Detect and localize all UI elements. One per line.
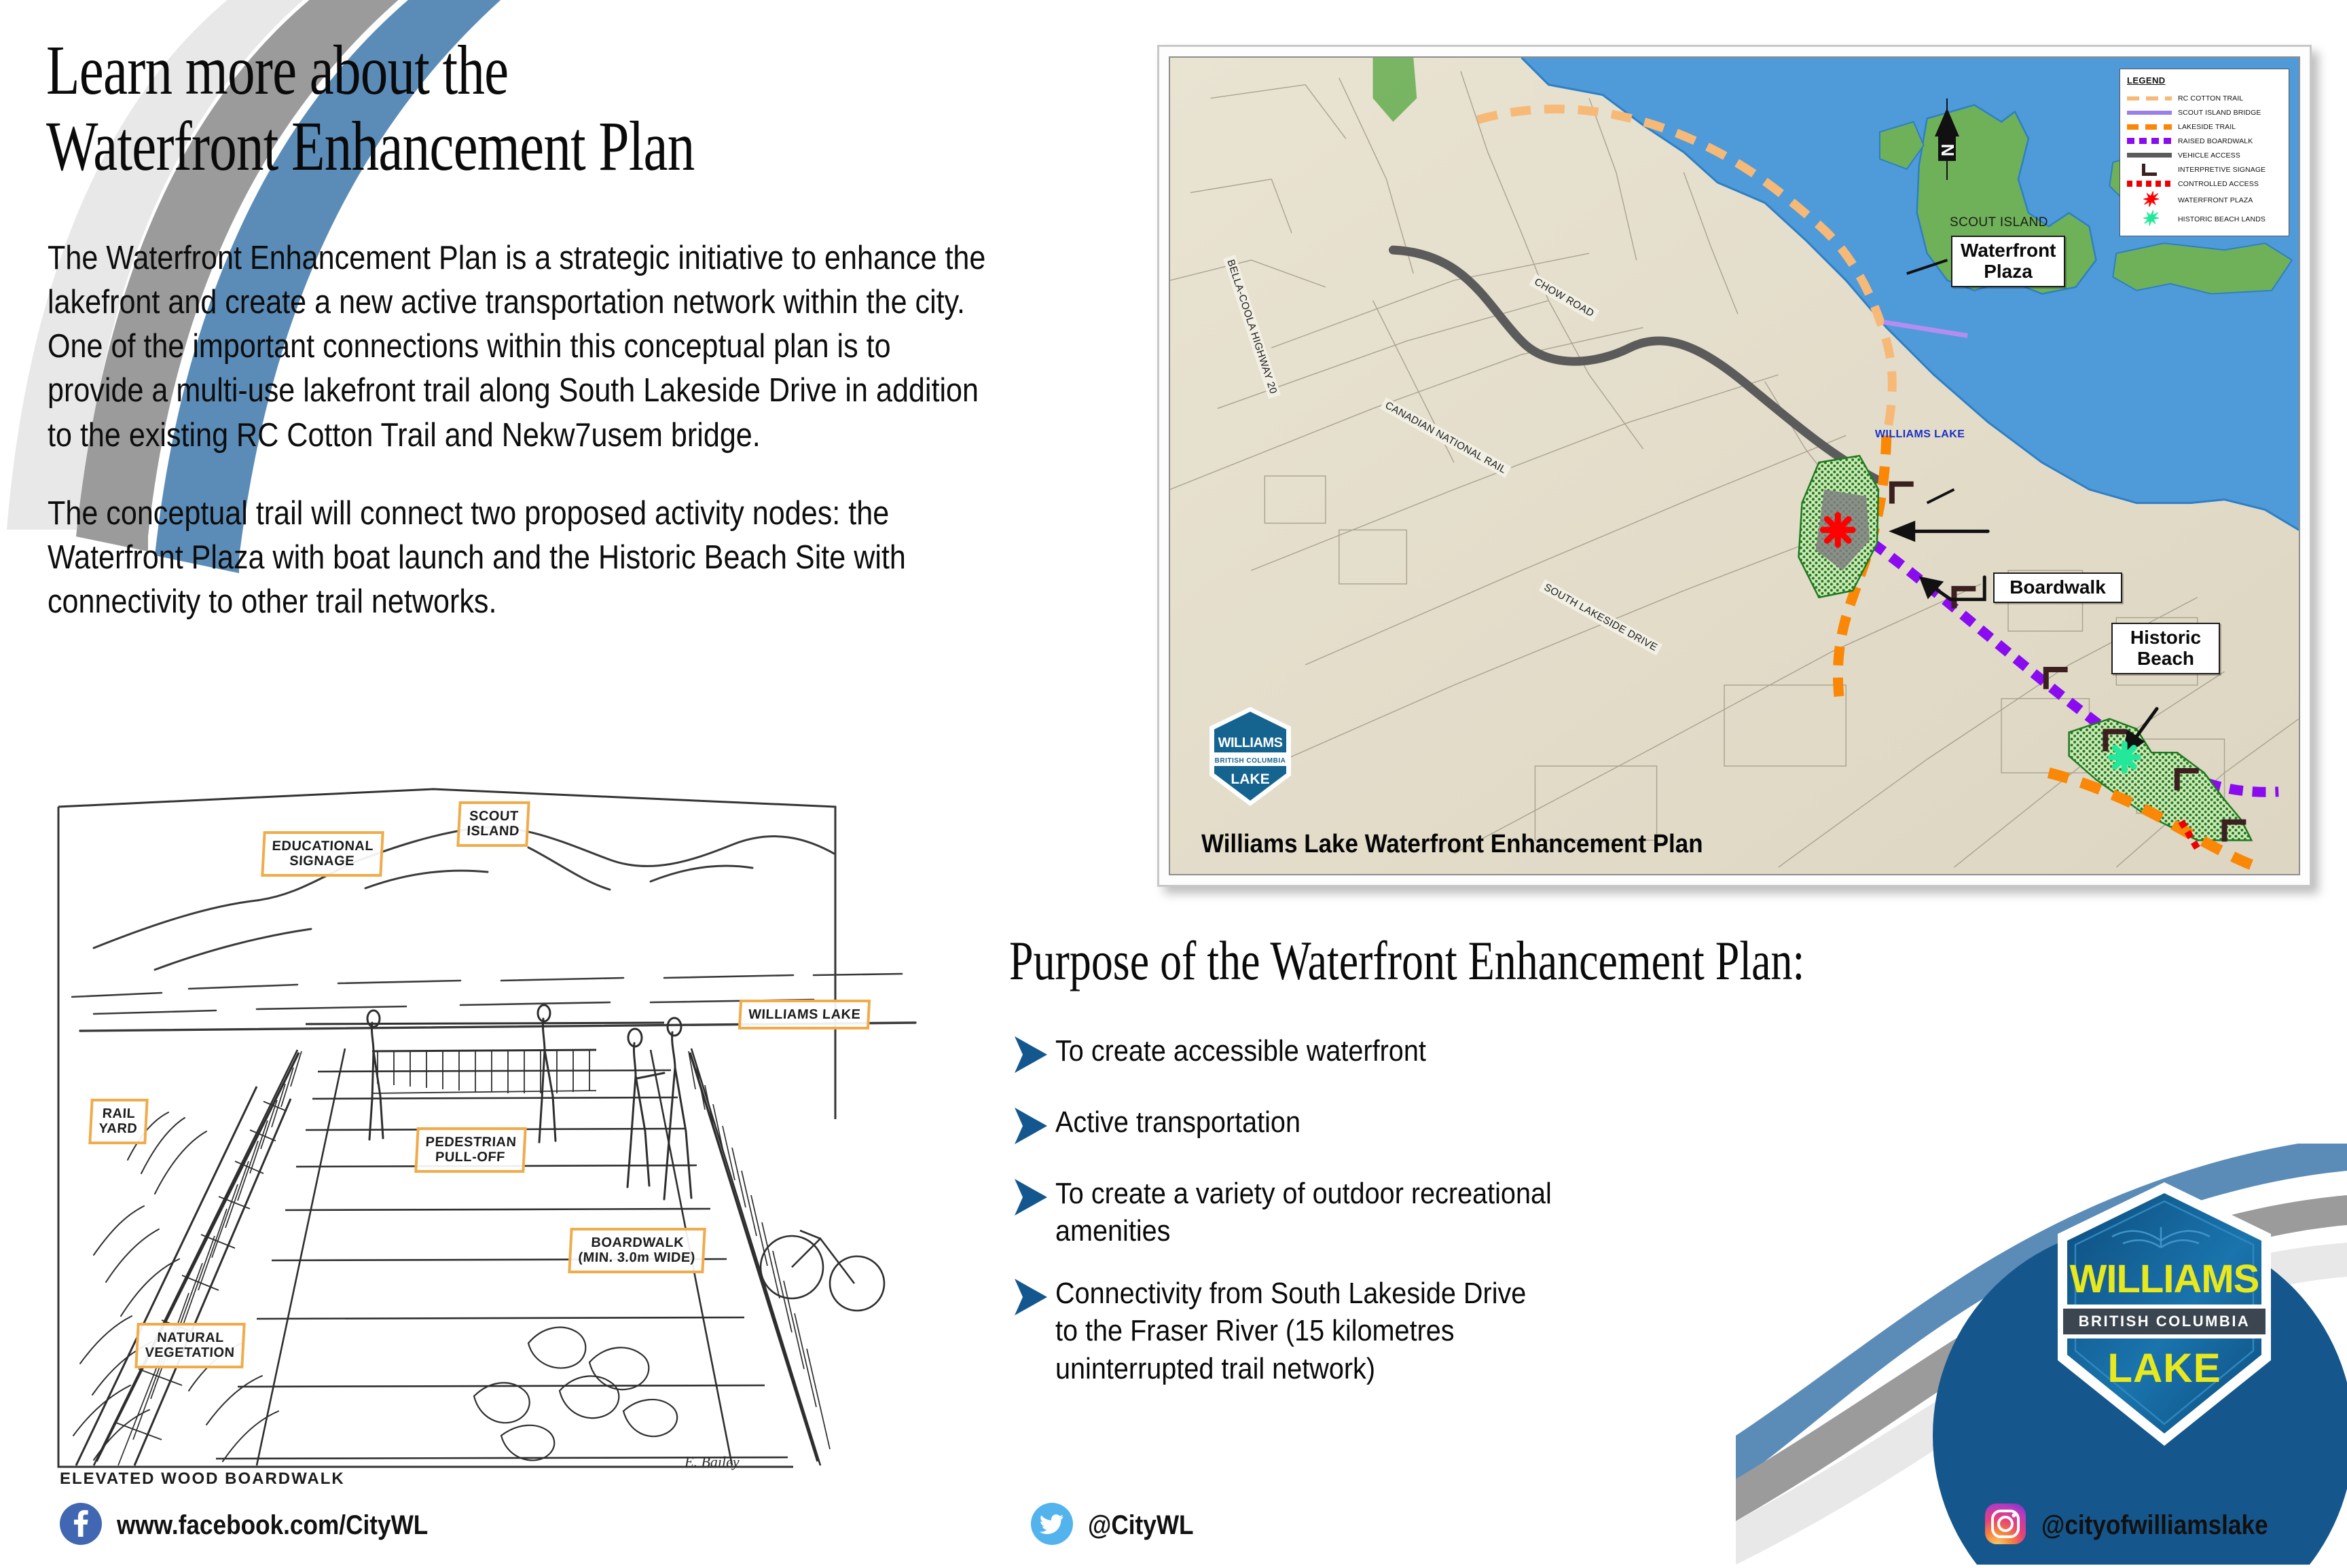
footer-instagram[interactable]: @cityofwilliamslake bbox=[1984, 1503, 2299, 1548]
headline-line-2: Waterfront Enhancement Plan bbox=[46, 109, 905, 185]
intro-copy: The Waterfront Enhancement Plan is a str… bbox=[48, 236, 991, 624]
legend-label: CONTROLLED ACCESS bbox=[2178, 180, 2259, 188]
star-icon: ✷ bbox=[2127, 215, 2172, 224]
facebook-icon bbox=[60, 1503, 102, 1548]
callout-historic-beach: Historic Beach bbox=[2111, 623, 2220, 674]
logo-line-1: WILLIAMS bbox=[2070, 1257, 2259, 1301]
star-icon: ✷ bbox=[2127, 196, 2172, 205]
map-city-badge: WILLIAMS BRITISH COLUMBIA LAKE bbox=[1205, 705, 1295, 812]
footer-facebook[interactable]: www.facebook.com/CityWL bbox=[60, 1503, 471, 1548]
map-panel: BELLA-COOLA HIGHWAY 20 CHOW ROAD CANADIA… bbox=[1157, 45, 2312, 887]
legend-label: SCOUT ISLAND BRIDGE bbox=[2178, 109, 2261, 117]
purpose-bullet: Active transportation bbox=[1012, 1104, 1895, 1150]
callout-text: Boardwalk bbox=[2009, 577, 2106, 598]
logo-line-2: BRITISH COLUMBIA bbox=[2079, 1313, 2251, 1330]
callout-boardwalk: Boardwalk bbox=[1993, 572, 2122, 603]
sketch-caption: ELEVATED WOOD BOARDWALK bbox=[60, 1470, 345, 1489]
logo-line-3: LAKE bbox=[2107, 1345, 2221, 1391]
dashed-line-icon bbox=[2127, 94, 2172, 103]
legend-row-vehicle-access: VEHICLE ACCESS bbox=[2127, 148, 2282, 162]
intro-paragraph-2: The conceptual trail will connect two pr… bbox=[48, 492, 991, 624]
sketch-label-natural-vegetation: NATURAL VEGETATION bbox=[134, 1323, 246, 1368]
sketch-label-educational-signage: EDUCATIONAL SIGNAGE bbox=[261, 831, 384, 877]
legend-row-scout-island-bridge: SCOUT ISLAND BRIDGE bbox=[2127, 105, 2282, 120]
map-label-williams-lake: WILLIAMS LAKE bbox=[1875, 429, 1965, 441]
dotted-line-icon bbox=[2127, 179, 2172, 189]
legend-label: HISTORIC BEACH LANDS bbox=[2178, 215, 2266, 223]
purpose-heading: Purpose of the Waterfront Enhancement Pl… bbox=[1009, 929, 1804, 993]
legend-row-raised-boardwalk: RAISED BOARDWALK bbox=[2127, 134, 2282, 148]
solid-line-icon bbox=[2127, 108, 2172, 117]
arrow-right-icon bbox=[1012, 1276, 1055, 1321]
north-arrow-icon: N bbox=[1931, 98, 1963, 183]
sketch-label-scout-island: SCOUT ISLAND bbox=[456, 801, 530, 847]
arrow-right-icon bbox=[1012, 1105, 1055, 1150]
sketch-label-pedestrian-pull-off: PEDESTRIAN PULL-OFF bbox=[414, 1127, 526, 1173]
sketch-signature: E. Bailey bbox=[684, 1453, 740, 1470]
legend-label: RAISED BOARDWALK bbox=[2178, 137, 2253, 145]
signage-bracket-icon bbox=[2127, 165, 2172, 175]
intro-paragraph-1: The Waterfront Enhancement Plan is a str… bbox=[48, 236, 991, 458]
callout-waterfront-plaza: Waterfront Plaza bbox=[1951, 236, 2065, 287]
purpose-bullet: To create accessible waterfront bbox=[1012, 1032, 1895, 1079]
sketch-label-boardwalk: BOARDWALK (MIN. 3.0m WIDE) bbox=[568, 1228, 706, 1273]
map-title: Williams Lake Waterfront Enhancement Pla… bbox=[1201, 830, 1703, 859]
dotted-line-icon bbox=[2127, 136, 2172, 146]
sketch-label-rail-yard: RAIL YARD bbox=[88, 1099, 148, 1144]
legend-row-lakeside-trail: LAKESIDE TRAIL bbox=[2127, 120, 2282, 134]
page-title: Learn more about the Waterfront Enhancem… bbox=[46, 33, 905, 185]
legend-row-waterfront-plaza: ✷ WATERFRONT PLAZA bbox=[2127, 191, 2282, 210]
instagram-icon bbox=[1984, 1503, 2026, 1548]
map-label-scout-island: SCOUT ISLAND bbox=[1950, 215, 2048, 230]
headline-line-1: Learn more about the bbox=[46, 31, 508, 109]
callout-text: Waterfront Plaza bbox=[1961, 240, 2056, 282]
facebook-handle: www.facebook.com/CityWL bbox=[117, 1510, 428, 1541]
purpose-bullet-text: To create accessible waterfront bbox=[1055, 1032, 1426, 1070]
legend-title: LEGEND bbox=[2127, 75, 2282, 86]
svg-text:N: N bbox=[1937, 144, 1958, 157]
svg-text:WILLIAMS: WILLIAMS bbox=[1218, 735, 1283, 750]
footer-twitter[interactable]: @CityWL bbox=[1031, 1503, 1208, 1548]
legend-row-interpretive-signage: INTERPRETIVE SIGNAGE bbox=[2127, 162, 2282, 177]
city-logo: WILLIAMS BRITISH COLUMBIA LAKE bbox=[2047, 1178, 2282, 1453]
purpose-bullet: Connectivity from South Lakeside Drive t… bbox=[1012, 1275, 1895, 1387]
purpose-bullet: To create a variety of outdoor recreatio… bbox=[1012, 1175, 1895, 1250]
legend-row-rc-cotton-trail: RC COTTON TRAIL bbox=[2127, 91, 2282, 105]
sketch-label-williams-lake: WILLIAMS LAKE bbox=[738, 1000, 871, 1029]
arrow-right-icon bbox=[1012, 1176, 1055, 1222]
boardwalk-sketch: E. Bailey EDUCATIONAL SIGNAGE SCOUT ISLA… bbox=[53, 780, 963, 1499]
svg-text:LAKE: LAKE bbox=[1231, 771, 1269, 787]
purpose-bullet-text: Active transportation bbox=[1055, 1104, 1300, 1141]
purpose-bullet-text: To create a variety of outdoor recreatio… bbox=[1055, 1175, 1552, 1250]
callout-text: Historic Beach bbox=[2130, 627, 2201, 669]
svg-text:BRITISH COLUMBIA: BRITISH COLUMBIA bbox=[1215, 757, 1286, 765]
arrow-right-icon bbox=[1012, 1034, 1055, 1079]
twitter-handle: @CityWL bbox=[1088, 1510, 1194, 1541]
solid-line-icon bbox=[2127, 151, 2172, 160]
legend-label: LAKESIDE TRAIL bbox=[2178, 123, 2236, 131]
legend-label: WATERFRONT PLAZA bbox=[2178, 196, 2253, 204]
legend-row-historic-beach-lands: ✷ HISTORIC BEACH LANDS bbox=[2127, 210, 2282, 229]
dashed-line-icon bbox=[2127, 122, 2172, 132]
legend-label: RC COTTON TRAIL bbox=[2178, 94, 2243, 103]
map-canvas[interactable]: BELLA-COOLA HIGHWAY 20 CHOW ROAD CANADIA… bbox=[1169, 56, 2300, 875]
instagram-handle: @cityofwilliamslake bbox=[2041, 1510, 2268, 1541]
legend-label: INTERPRETIVE SIGNAGE bbox=[2178, 166, 2266, 174]
purpose-bullet-text: Connectivity from South Lakeside Drive t… bbox=[1055, 1275, 1526, 1387]
twitter-icon bbox=[1031, 1503, 1073, 1548]
map-legend: LEGEND RC COTTON TRAIL SCOUT ISLAND BRID… bbox=[2119, 69, 2289, 236]
purpose-bullet-list: To create accessible waterfront Active t… bbox=[1012, 1032, 1895, 1412]
legend-label: VEHICLE ACCESS bbox=[2178, 151, 2240, 160]
